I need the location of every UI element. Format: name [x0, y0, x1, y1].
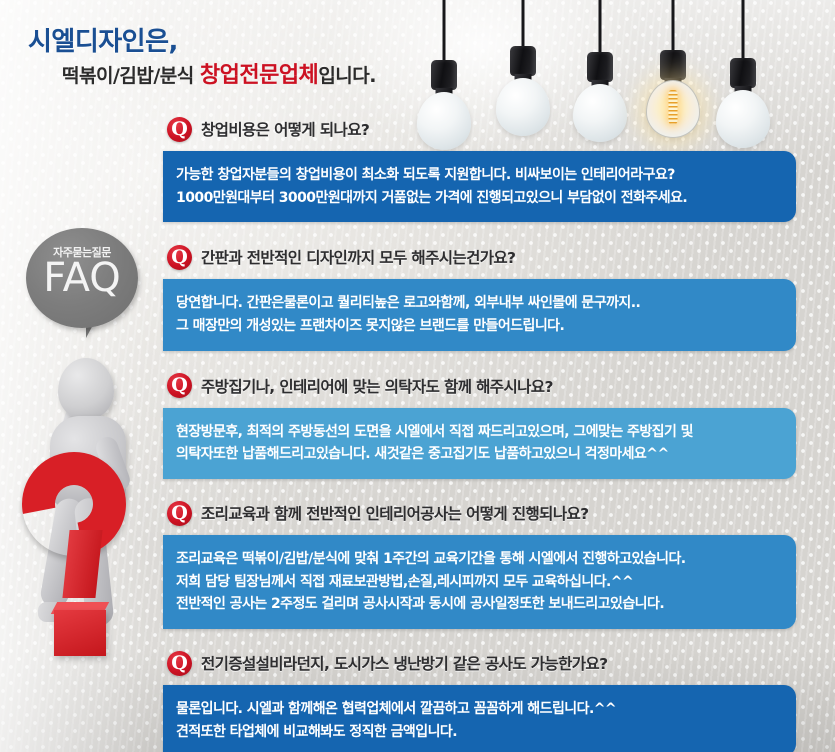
- faq-question-row[interactable]: Q 조리교육과 함께 전반적인 인테리어공사는 어떻게 진행되나요?: [165, 496, 825, 530]
- question-mark-q-icon: Q: [167, 117, 192, 142]
- faq-item: Q 창업비용은 어떻게 되나요? 가능한 창업자분들의 창업비용이 최소화 되도…: [165, 112, 825, 222]
- faq-answer-box: 조리교육은 떡볶이/김밥/분식에 맞춰 1주간의 교육기간을 통해 시엘에서 진…: [163, 535, 796, 629]
- question-mark-dot: [54, 610, 106, 656]
- faq-page: 시엘디자인은, 떡볶이/김밥/분식 창업전문업체입니다. 자주묻는질문 FAQ …: [0, 0, 835, 752]
- faq-badge-title: FAQ: [26, 258, 138, 298]
- faq-answer-line: 그 매장만의 개성있는 프랜차이즈 못지않은 브랜드를 만들어드립니다.: [176, 315, 780, 338]
- faq-answer-line: 전반적인 공사는 2주정도 걸리며 공사시작과 동시에 공사일정또한 보내드리고…: [176, 593, 780, 616]
- faq-answer-line: 1000만원대부터 3000만원대까지 거품없는 가격에 진행되고있으니 부담없…: [176, 187, 780, 210]
- page-header: 시엘디자인은, 떡볶이/김밥/분식 창업전문업체입니다.: [28, 28, 448, 88]
- faq-answer-line: 견적또한 타업체에 비교해봐도 정직한 금액입니다.: [176, 721, 780, 744]
- faq-item: Q 전기증설설비라던지, 도시가스 냉난방기 같은 공사도 가능한가요? 물론입…: [165, 646, 825, 752]
- faq-answer-box: 현장방문후, 최적의 주방동선의 도면을 시엘에서 직접 짜드리고있으며, 그에…: [163, 408, 796, 479]
- faq-item: Q 주방집기나, 인테리어에 맞는 의탁자도 함께 해주시나요? 현장방문후, …: [165, 369, 825, 479]
- faq-answer-line: 조리교육은 떡볶이/김밥/분식에 맞춰 1주간의 교육기간을 통해 시엘에서 진…: [176, 548, 780, 571]
- question-mark-q-icon: Q: [167, 373, 192, 398]
- faq-badge: 자주묻는질문 FAQ: [26, 228, 138, 328]
- faq-question-row[interactable]: Q 주방집기나, 인테리어에 맞는 의탁자도 함께 해주시나요?: [165, 369, 825, 403]
- faq-question-text: 주방집기나, 인테리어에 맞는 의탁자도 함께 해주시나요?: [201, 375, 553, 397]
- question-mark-icon: [14, 452, 144, 667]
- faq-answer-box: 가능한 창업자분들의 창업비용이 최소화 되도록 지원합니다. 비싸보이는 인테…: [163, 151, 796, 222]
- question-mark-q-icon: Q: [167, 651, 192, 676]
- faq-question-text: 전기증설설비라던지, 도시가스 냉난방기 같은 공사도 가능한가요?: [201, 652, 607, 674]
- question-mark-q-icon: Q: [167, 501, 192, 526]
- subtitle-prefix: 떡볶이/김밥/분식: [62, 65, 200, 87]
- faq-question-row[interactable]: Q 간판과 전반적인 디자인까지 모두 해주시는건가요?: [165, 240, 825, 274]
- question-mark-stem: [62, 530, 102, 598]
- faq-question-text: 창업비용은 어떻게 되나요?: [201, 118, 369, 140]
- faq-question-row[interactable]: Q 전기증설설비라던지, 도시가스 냉난방기 같은 공사도 가능한가요?: [165, 646, 825, 680]
- faq-answer-box: 당연합니다. 간판은물론이고 퀄리티높은 로고와함께, 외부내부 싸인몰에 문구…: [163, 279, 796, 350]
- figure-head: [58, 358, 114, 420]
- faq-answer-line: 당연합니다. 간판은물론이고 퀄리티높은 로고와함께, 외부내부 싸인몰에 문구…: [176, 292, 780, 315]
- subtitle-highlight: 창업전문업체: [200, 63, 318, 88]
- faq-answer-line: 의탁자또한 납품해드리고있습니다. 새것같은 중고집기도 납품하고있으니 걱정마…: [176, 443, 780, 466]
- faq-item: Q 조리교육과 함께 전반적인 인테리어공사는 어떻게 진행되나요? 조리교육은…: [165, 496, 825, 629]
- faq-answer-line: 저희 담당 팀장님께서 직접 재료보관방법,손질,레시피까지 모두 교육하십니다…: [176, 571, 780, 594]
- subtitle-suffix: 입니다.: [318, 65, 376, 87]
- faq-question-text: 조리교육과 함께 전반적인 인테리어공사는 어떻게 진행되나요?: [201, 502, 589, 524]
- faq-question-row[interactable]: Q 창업비용은 어떻게 되나요?: [165, 112, 825, 146]
- faq-answer-line: 물론입니다. 시엘과 함께해온 협력업체에서 깔끔하고 꼼꼼하게 해드립니다.^…: [176, 698, 780, 721]
- faq-question-text: 간판과 전반적인 디자인까지 모두 해주시는건가요?: [201, 246, 515, 268]
- faq-answer-line: 현장방문후, 최적의 주방동선의 도면을 시엘에서 직접 짜드리고있으며, 그에…: [176, 421, 780, 444]
- page-title: 시엘디자인은,: [28, 28, 448, 57]
- faq-item: Q 간판과 전반적인 디자인까지 모두 해주시는건가요? 당연합니다. 간판은물…: [165, 240, 825, 350]
- page-subtitle: 떡볶이/김밥/분식 창업전문업체입니다.: [62, 64, 448, 88]
- question-mark-q-icon: Q: [167, 245, 192, 270]
- faq-list: Q 창업비용은 어떻게 되나요? 가능한 창업자분들의 창업비용이 최소화 되도…: [165, 112, 825, 752]
- faq-answer-box: 물론입니다. 시엘과 함께해온 협력업체에서 깔끔하고 꼼꼼하게 해드립니다.^…: [163, 685, 796, 752]
- faq-answer-line: 가능한 창업자분들의 창업비용이 최소화 되도록 지원합니다. 비싸보이는 인테…: [176, 164, 780, 187]
- light-bulbs-group: [430, 0, 835, 130]
